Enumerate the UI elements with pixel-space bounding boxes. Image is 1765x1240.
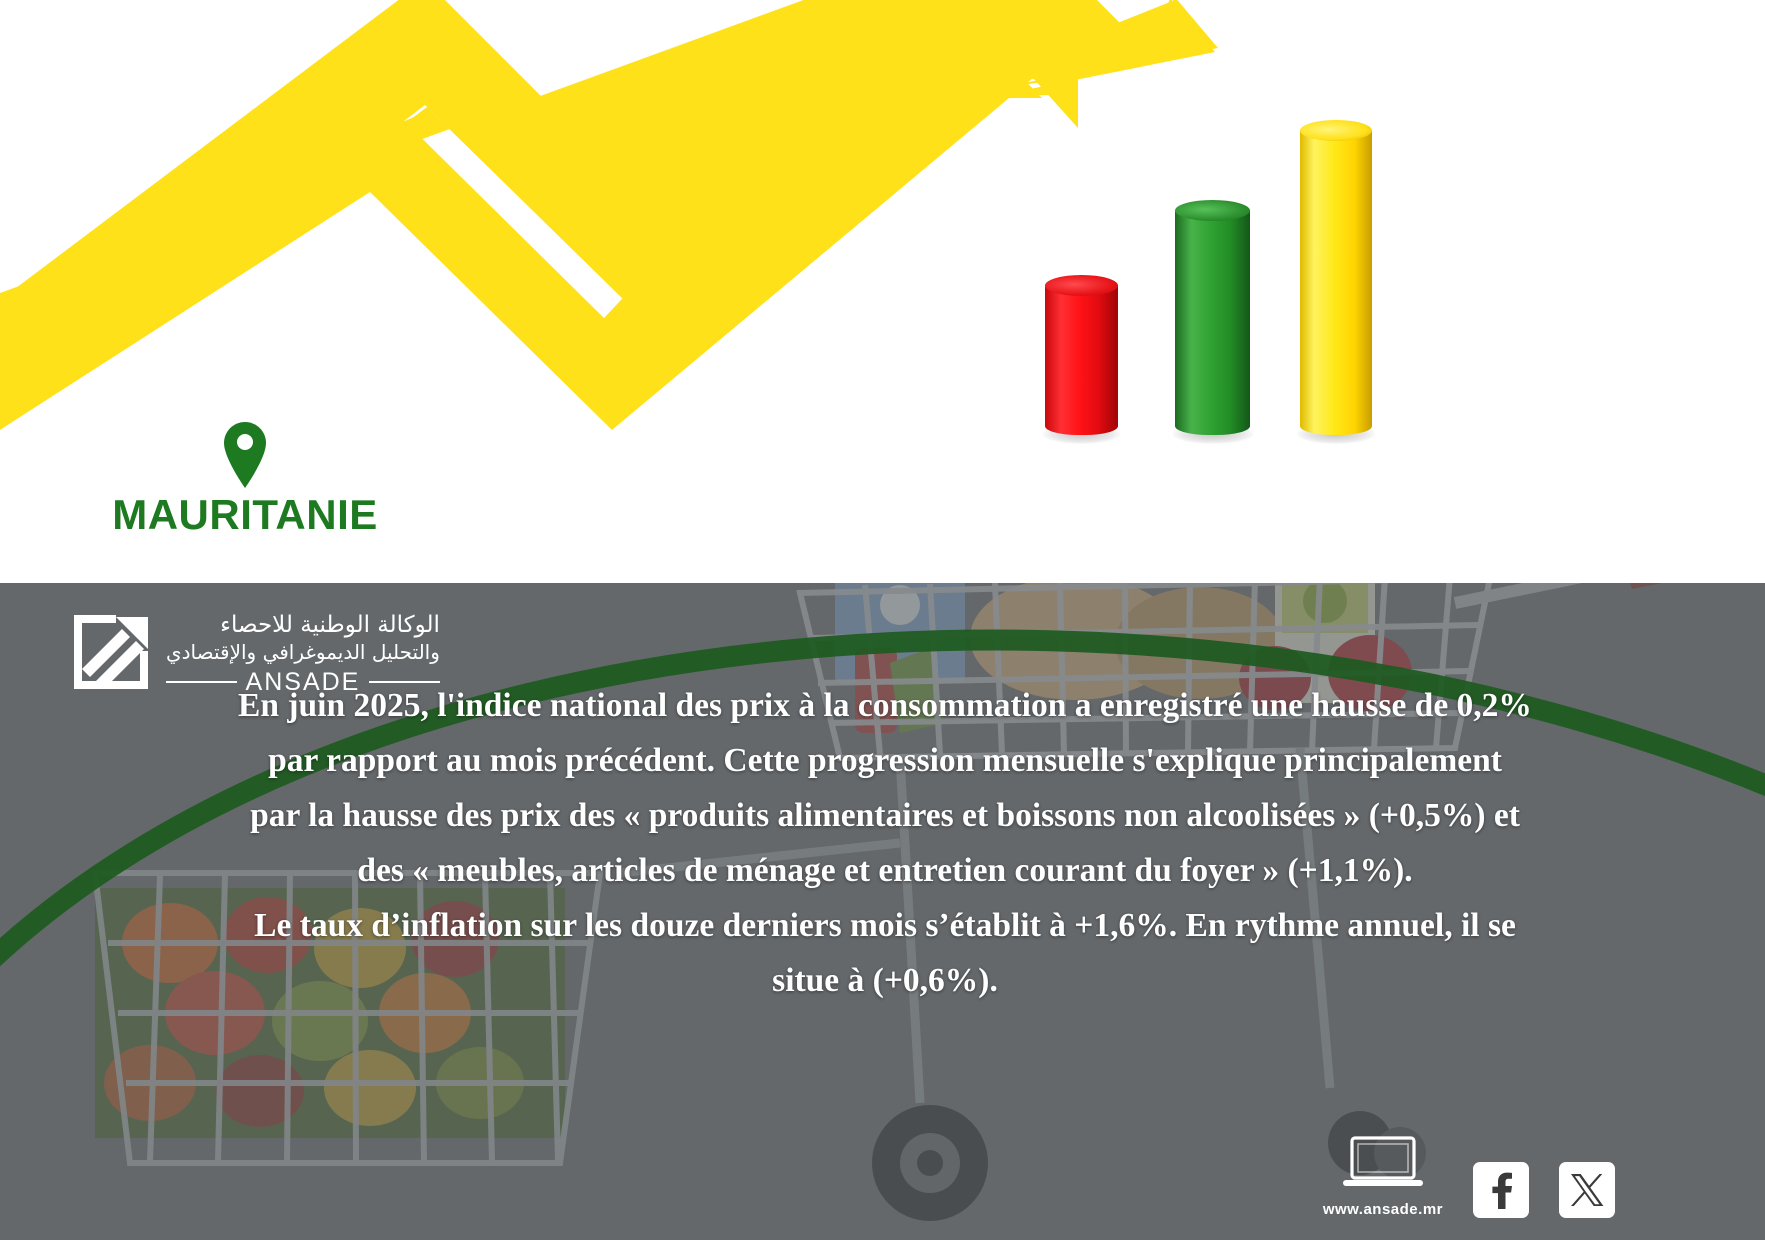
website-url[interactable]: www.ansade.mr (1323, 1201, 1443, 1218)
bar-body (1300, 130, 1372, 435)
body-copy: En juin 2025, l'indice national des prix… (55, 678, 1715, 1008)
bar-1 (1045, 275, 1118, 435)
location-block: MAURITANIE (105, 420, 385, 536)
footer-social-links: www.ansade.mr (1323, 1134, 1615, 1218)
facebook-icon[interactable] (1484, 1171, 1518, 1209)
bar-cap (1045, 275, 1118, 296)
facebook-link[interactable] (1473, 1162, 1529, 1218)
x-twitter-link[interactable] (1559, 1162, 1615, 1218)
logo-arabic-line-1: الوكالة الوطنية للاحصاء (166, 611, 440, 640)
body-line-4: des « meubles, articles de ménage et ent… (55, 843, 1715, 898)
bar-body (1175, 210, 1250, 435)
body-line-1: En juin 2025, l'indice national des prix… (55, 678, 1715, 733)
bottom-info-panel: الوكالة الوطنية للاحصاء والتحليل الديموغ… (0, 583, 1765, 1240)
bar-2 (1175, 200, 1250, 435)
bar-3 (1300, 120, 1372, 435)
body-line-6: situe à (+0,6%). (55, 953, 1715, 1008)
country-label: MAURITANIE (105, 494, 385, 536)
body-line-2: par rapport au mois précédent. Cette pro… (55, 733, 1715, 788)
bar-cap (1175, 200, 1250, 221)
body-line-5: Le taux d’inflation sur les douze dernie… (55, 898, 1715, 953)
website-link[interactable]: www.ansade.mr (1323, 1134, 1443, 1218)
bar-body (1045, 285, 1118, 435)
top-banner: MAURITANIE (0, 0, 1765, 583)
body-line-3: par la hausse des prix des « produits al… (55, 788, 1715, 843)
bar-cap (1300, 120, 1372, 141)
laptop-website-icon[interactable] (1343, 1134, 1423, 1192)
location-pin-icon (219, 420, 271, 490)
x-twitter-icon[interactable] (1570, 1173, 1604, 1207)
logo-arabic-line-2: والتحليل الديموغرافي والإقتصادي (166, 640, 440, 665)
infographic-page: MAURITANIE (0, 0, 1765, 1240)
